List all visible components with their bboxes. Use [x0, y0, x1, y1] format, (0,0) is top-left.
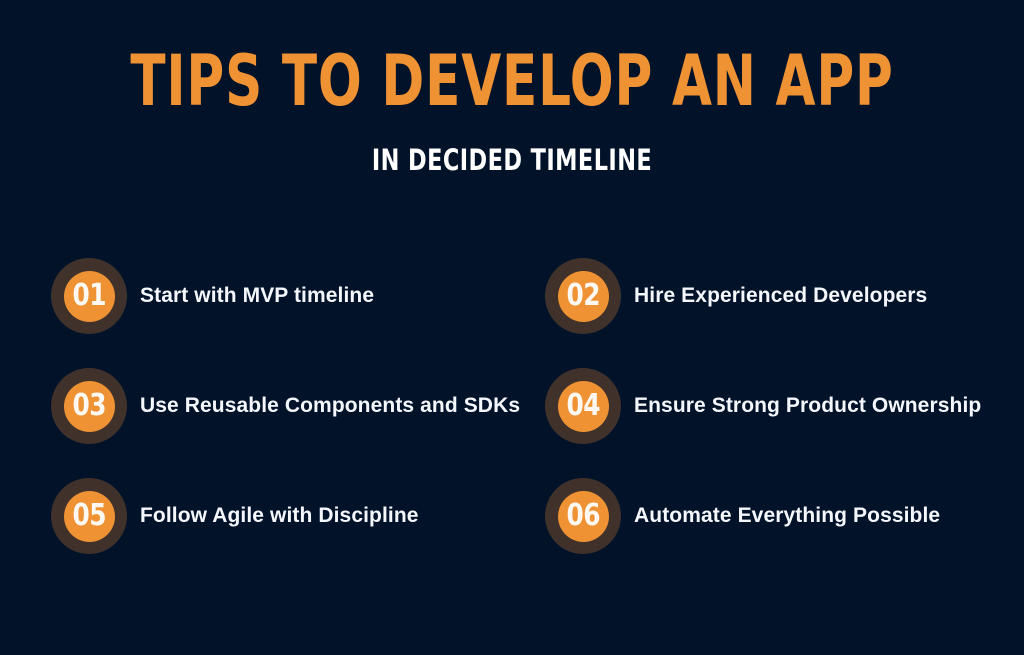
- tip-label: Use Reusable Components and SDKs: [140, 393, 520, 419]
- badge-inner-circle: 04: [558, 381, 609, 432]
- tip-label: Follow Agile with Discipline: [140, 503, 419, 529]
- list-item: 01 Start with MVP timeline: [51, 258, 545, 334]
- badge-inner-circle: 01: [64, 271, 115, 322]
- tip-label: Hire Experienced Developers: [634, 283, 927, 309]
- badge-number: 02: [566, 281, 600, 311]
- list-item: 05 Follow Agile with Discipline: [51, 478, 545, 554]
- list-item: 06 Automate Everything Possible: [545, 478, 973, 554]
- infographic-poster: TIPS TO DEVELOP AN APP IN DECIDED TIMELI…: [0, 0, 1024, 655]
- list-item: 04 Ensure Strong Product Ownership: [545, 368, 973, 444]
- badge-number: 04: [566, 391, 600, 421]
- badge-inner-circle: 06: [558, 491, 609, 542]
- badge-number: 01: [72, 281, 106, 311]
- badge-number: 06: [566, 501, 600, 531]
- badge-inner-circle: 05: [64, 491, 115, 542]
- tip-label: Ensure Strong Product Ownership: [634, 393, 981, 419]
- step-number-badge: 04: [545, 368, 621, 444]
- step-number-badge: 05: [51, 478, 127, 554]
- tips-grid: 01 Start with MVP timeline 02 Hire Exper…: [51, 258, 973, 594]
- page-title: TIPS TO DEVELOP AN APP: [92, 44, 932, 118]
- badge-inner-circle: 03: [64, 381, 115, 432]
- badge-inner-circle: 02: [558, 271, 609, 322]
- step-number-badge: 01: [51, 258, 127, 334]
- badge-number: 03: [72, 391, 106, 421]
- step-number-badge: 06: [545, 478, 621, 554]
- list-item: 02 Hire Experienced Developers: [545, 258, 973, 334]
- tip-label: Automate Everything Possible: [634, 503, 940, 529]
- list-item: 03 Use Reusable Components and SDKs: [51, 368, 545, 444]
- step-number-badge: 02: [545, 258, 621, 334]
- badge-number: 05: [72, 501, 106, 531]
- page-subtitle: IN DECIDED TIMELINE: [72, 144, 953, 176]
- heading-block: TIPS TO DEVELOP AN APP IN DECIDED TIMELI…: [0, 44, 1024, 176]
- tip-label: Start with MVP timeline: [140, 283, 374, 309]
- step-number-badge: 03: [51, 368, 127, 444]
